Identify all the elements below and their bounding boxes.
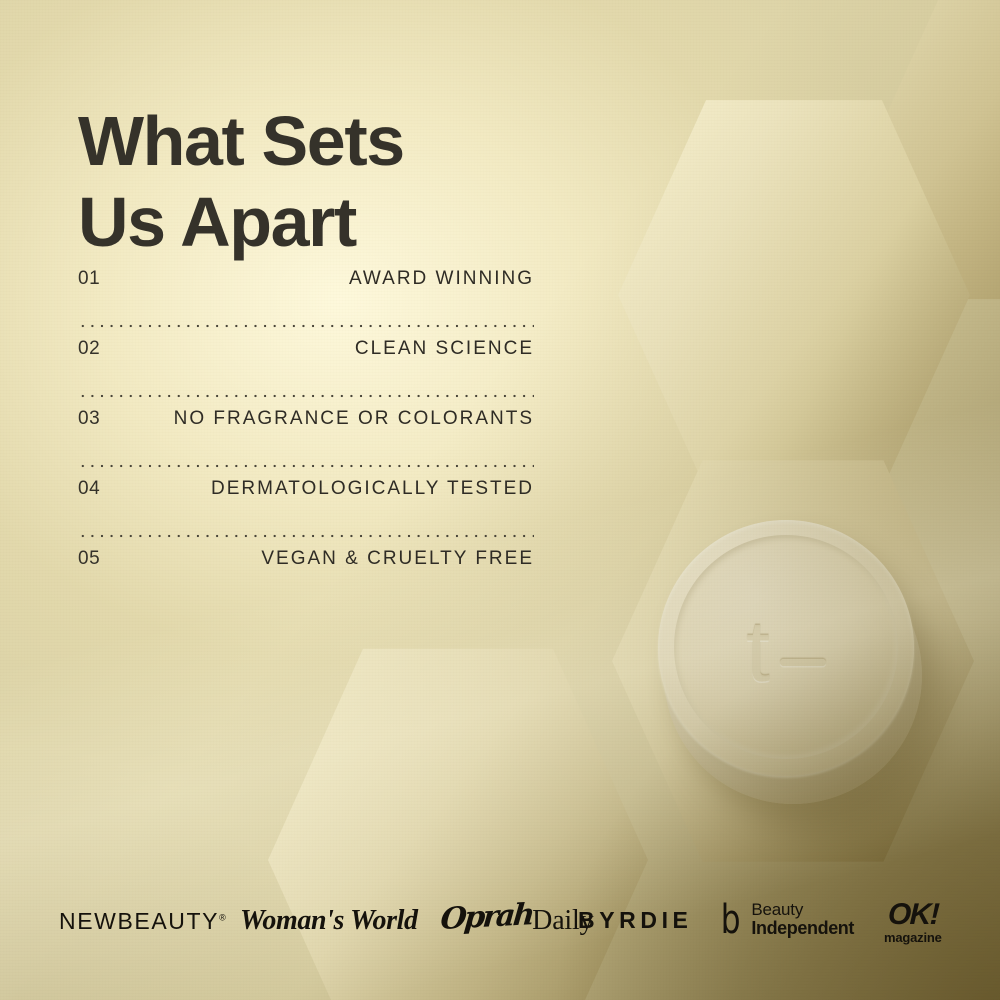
list-separator [78,384,534,408]
beauty-independent-wordmark: Beauty Independent [751,901,854,938]
page-title-line-2: Us Apart [78,182,598,263]
list-item: 01 AWARD WINNING [78,268,534,314]
list-item-label: DERMATOLOGICALLY TESTED [211,478,534,500]
ok-magazine-line-1: OK! [887,900,938,930]
list-item-number: 03 [78,408,100,430]
differentiator-list: 01 AWARD WINNING 02 CLEAN SCIENCE 03 NO … [78,268,534,594]
page-title: What Sets Us Apart [78,101,598,263]
list-item: 02 CLEAN SCIENCE [78,338,534,384]
list-separator [78,524,534,548]
promo-graphic: t What Sets Us Apart 01 AWARD WINNING 02… [0,0,1000,1000]
list-item-number: 01 [78,268,100,290]
list-item-number: 02 [78,338,100,360]
ok-magazine-line-2: magazine [884,931,942,944]
logo-beauty-independent: b Beauty Independent [718,901,854,938]
logo-newbeauty-wordmark: NEWBEAUTY [59,908,219,934]
logo-byrdie: BYRDIE [578,907,693,934]
list-separator [78,314,534,338]
beauty-independent-b-icon: b [721,902,741,938]
logo-oprah-daily: Oprah Daily [439,902,593,937]
list-item-label: CLEAN SCIENCE [355,338,534,360]
logo-newbeauty: NEWBEAUTY® [59,908,226,935]
list-item-label: VEGAN & CRUELTY FREE [261,548,534,570]
page-title-line-1: What Sets [78,101,598,182]
list-item-number: 05 [78,548,100,570]
logo-oprah-script: Oprah [439,897,534,937]
list-item: 05 VEGAN & CRUELTY FREE [78,548,534,594]
beauty-independent-line-2: Independent [751,919,854,938]
logo-newbeauty-trademark-icon: ® [219,912,226,922]
list-item-label: AWARD WINNING [349,268,534,290]
list-item-label: NO FRAGRANCE OR COLORANTS [174,408,534,430]
list-item: 04 DERMATOLOGICALLY TESTED [78,478,534,524]
list-item: 03 NO FRAGRANCE OR COLORANTS [78,408,534,454]
logo-ok-magazine: OK! magazine [884,900,942,944]
beauty-independent-line-1: Beauty [751,901,854,919]
list-separator [78,454,534,478]
press-logo-bar: NEWBEAUTY® Woman's World Oprah Daily BYR… [0,896,1000,962]
logo-womans-world: Woman's World [240,905,418,937]
list-item-number: 04 [78,478,100,500]
